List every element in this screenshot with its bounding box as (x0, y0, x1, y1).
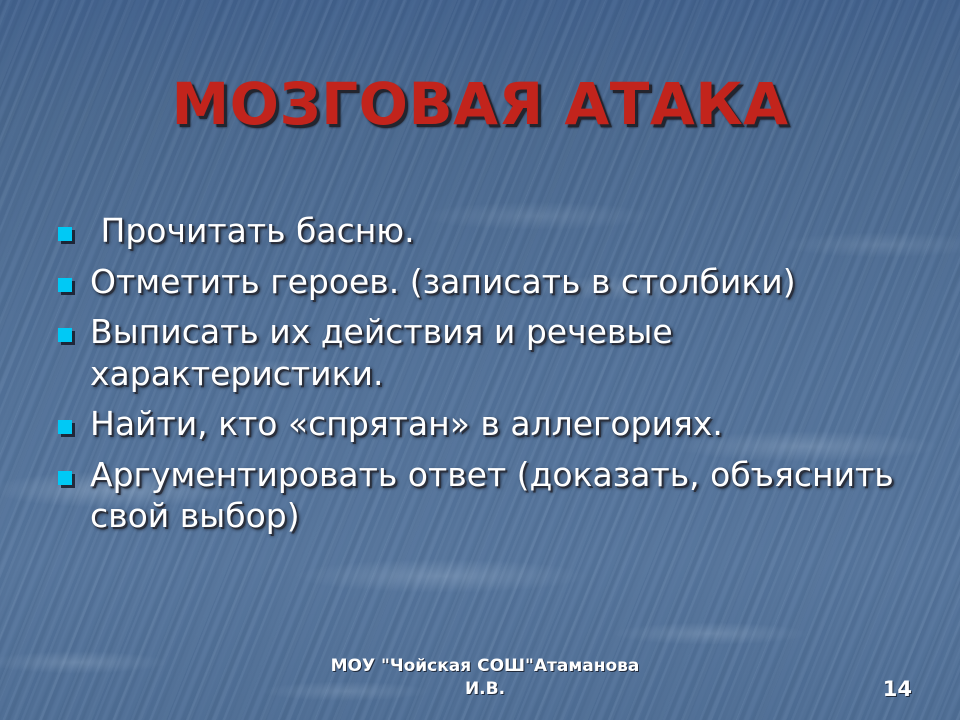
square-bullet-icon (58, 471, 72, 485)
square-bullet-icon (58, 227, 72, 241)
square-bullet-icon (58, 420, 72, 434)
presentation-slide: МОЗГОВАЯ АТАКА Прочитать басню. Отметить… (0, 0, 960, 720)
list-item[interactable]: Выписать их действия и речевые характери… (58, 311, 918, 394)
list-item[interactable]: Отметить героев. (записать в столбики) (58, 261, 918, 303)
footer-credit: МОУ "Чойская СОШ"Атаманова И.В. (180, 655, 790, 701)
footer-credit-line-1: МОУ "Чойская СОШ"Атаманова (180, 655, 790, 678)
bullet-list: Прочитать басню. Отметить героев. (запис… (58, 210, 918, 546)
list-item[interactable]: Аргументировать ответ (доказать, объясни… (58, 454, 918, 537)
list-item[interactable]: Прочитать басню. (58, 210, 918, 252)
square-bullet-icon (58, 328, 72, 342)
list-item[interactable]: Найти, кто «спрятан» в аллегориях. (58, 403, 918, 445)
list-item-label: Прочитать басню. (90, 210, 918, 252)
slide-title: МОЗГОВАЯ АТАКА (0, 74, 960, 135)
list-item-label: Выписать их действия и речевые характери… (90, 311, 918, 394)
list-item-label: Аргументировать ответ (доказать, объясни… (90, 454, 918, 537)
square-bullet-icon (58, 278, 72, 292)
slide-number: 14 (883, 677, 912, 701)
list-item-label: Отметить героев. (записать в столбики) (90, 261, 918, 303)
list-item-label: Найти, кто «спрятан» в аллегориях. (90, 403, 918, 445)
footer-credit-line-2: И.В. (180, 678, 790, 701)
